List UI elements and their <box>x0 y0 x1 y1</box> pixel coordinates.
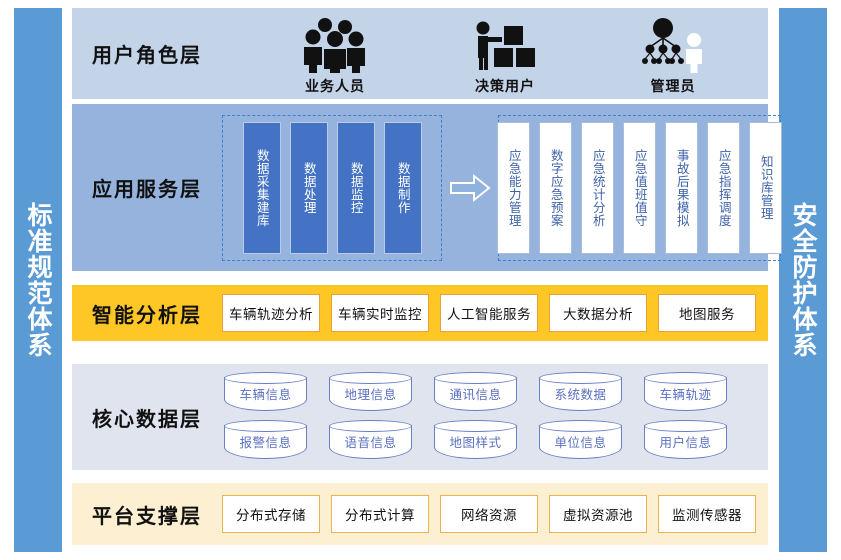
architecture-diagram: 标准规范体系 安全防护体系 用户角色层 <box>0 0 841 560</box>
org-hierarchy-person-icon <box>639 17 707 73</box>
database-cylinder[interactable]: 系统数据 <box>539 372 622 414</box>
layer-user-role-title: 用户角色层 <box>72 39 222 68</box>
layer-application-service: 应用服务层 数据采集建库 数据处理 数据监控 数据制作 应急能力管理 数字应急预… <box>72 104 768 271</box>
cylinder-top <box>329 420 412 432</box>
cylinder-label: 系统数据 <box>554 384 606 403</box>
layer-user-role: 用户角色层 业务人员 <box>72 8 768 99</box>
cylinder-top <box>539 372 622 384</box>
platform-item[interactable]: 网络资源 <box>440 495 538 533</box>
cylinder-top <box>644 420 727 432</box>
cylinder-label: 地理信息 <box>344 384 396 403</box>
sidebar-left-label: 标准规范体系 <box>22 202 54 358</box>
cylinder-label: 通讯信息 <box>449 384 501 403</box>
role-label: 业务人员 <box>305 76 365 96</box>
layer-platform-support: 平台支撑层 分布式存储 分布式计算 网络资源 虚拟资源池 监测传感器 <box>72 483 768 545</box>
cylinder-label: 报警信息 <box>239 432 291 451</box>
layer-core-data: 核心数据层 车辆信息 地理信息 通讯信息 <box>72 364 768 470</box>
cylinder-label: 车辆轨迹 <box>659 384 711 403</box>
core-data-row: 报警信息 语音信息 地图样式 单位信息 <box>224 420 768 462</box>
cylinder-top <box>539 420 622 432</box>
cylinder-top <box>329 372 412 384</box>
platform-item[interactable]: 分布式计算 <box>331 495 429 533</box>
core-data-grid: 车辆信息 地理信息 通讯信息 系统数据 <box>222 372 768 462</box>
database-cylinder[interactable]: 语音信息 <box>329 420 412 462</box>
cylinder-label: 单位信息 <box>554 432 606 451</box>
platform-item[interactable]: 分布式存储 <box>222 495 320 533</box>
app-module-box[interactable]: 数据采集建库 <box>243 122 281 254</box>
app-module-box[interactable]: 数据制作 <box>384 122 422 254</box>
analysis-item[interactable]: 大数据分析 <box>549 294 647 332</box>
analysis-item[interactable]: 车辆轨迹分析 <box>222 294 320 332</box>
database-cylinder[interactable]: 单位信息 <box>539 420 622 462</box>
role-label: 管理员 <box>651 76 696 96</box>
cylinder-top <box>224 420 307 432</box>
layer-core-data-title: 核心数据层 <box>72 403 222 432</box>
app-module-box[interactable]: 事故后果模拟 <box>665 122 698 254</box>
app-module-box[interactable]: 应急指挥调度 <box>707 122 740 254</box>
role-label: 决策用户 <box>475 76 535 96</box>
layer-intelligent-analysis-title: 智能分析层 <box>72 299 222 328</box>
application-service-body: 数据采集建库 数据处理 数据监控 数据制作 应急能力管理 数字应急预案 应急统计… <box>222 104 781 271</box>
cylinder-label: 地图样式 <box>449 432 501 451</box>
role-item-administrator[interactable]: 管理员 <box>598 17 748 96</box>
app-module-box[interactable]: 应急值班值守 <box>623 122 656 254</box>
cylinder-label: 语音信息 <box>344 432 396 451</box>
layer-platform-support-title: 平台支撑层 <box>72 500 222 529</box>
analysis-item[interactable]: 地图服务 <box>658 294 756 332</box>
app-module-box[interactable]: 知识库管理 <box>749 122 782 254</box>
sidebar-right-label: 安全防护体系 <box>787 202 819 358</box>
sidebar-security-protection: 安全防护体系 <box>779 8 827 552</box>
database-cylinder[interactable]: 车辆信息 <box>224 372 307 414</box>
cylinder-label: 车辆信息 <box>239 384 291 403</box>
people-group-icon <box>301 17 369 73</box>
database-cylinder[interactable]: 车辆轨迹 <box>644 372 727 414</box>
arrow-right-icon <box>442 174 498 202</box>
cylinder-top <box>434 372 517 384</box>
database-cylinder[interactable]: 报警信息 <box>224 420 307 462</box>
cylinder-top <box>644 372 727 384</box>
analysis-item[interactable]: 车辆实时监控 <box>331 294 429 332</box>
platform-support-list: 分布式存储 分布式计算 网络资源 虚拟资源池 监测传感器 <box>222 495 768 533</box>
platform-item[interactable]: 虚拟资源池 <box>549 495 647 533</box>
intelligent-analysis-list: 车辆轨迹分析 车辆实时监控 人工智能服务 大数据分析 地图服务 <box>222 294 768 332</box>
role-item-business-staff[interactable]: 业务人员 <box>260 17 410 96</box>
cylinder-label: 用户信息 <box>659 432 711 451</box>
app-module-box[interactable]: 应急统计分析 <box>581 122 614 254</box>
role-item-decision-user[interactable]: 决策用户 <box>430 17 580 96</box>
platform-item[interactable]: 监测传感器 <box>658 495 756 533</box>
layer-intelligent-analysis: 智能分析层 车辆轨迹分析 车辆实时监控 人工智能服务 大数据分析 地图服务 <box>72 285 768 341</box>
app-module-box[interactable]: 应急能力管理 <box>497 122 530 254</box>
person-with-blocks-icon <box>471 17 539 73</box>
layer-application-service-title: 应用服务层 <box>72 173 222 202</box>
app-left-group: 数据采集建库 数据处理 数据监控 数据制作 <box>222 115 442 261</box>
app-module-box[interactable]: 数字应急预案 <box>539 122 572 254</box>
core-data-row: 车辆信息 地理信息 通讯信息 系统数据 <box>224 372 768 414</box>
database-cylinder[interactable]: 地图样式 <box>434 420 517 462</box>
database-cylinder[interactable]: 用户信息 <box>644 420 727 462</box>
user-role-list: 业务人员 决策用户 <box>222 11 768 96</box>
database-cylinder[interactable]: 通讯信息 <box>434 372 517 414</box>
cylinder-top <box>434 420 517 432</box>
app-module-box[interactable]: 数据监控 <box>337 122 375 254</box>
app-module-box[interactable]: 数据处理 <box>290 122 328 254</box>
database-cylinder[interactable]: 地理信息 <box>329 372 412 414</box>
analysis-item[interactable]: 人工智能服务 <box>440 294 538 332</box>
app-right-group: 应急能力管理 数字应急预案 应急统计分析 应急值班值守 事故后果模拟 应急指挥调… <box>498 115 781 261</box>
sidebar-standard-specification: 标准规范体系 <box>14 8 62 552</box>
cylinder-top <box>224 372 307 384</box>
